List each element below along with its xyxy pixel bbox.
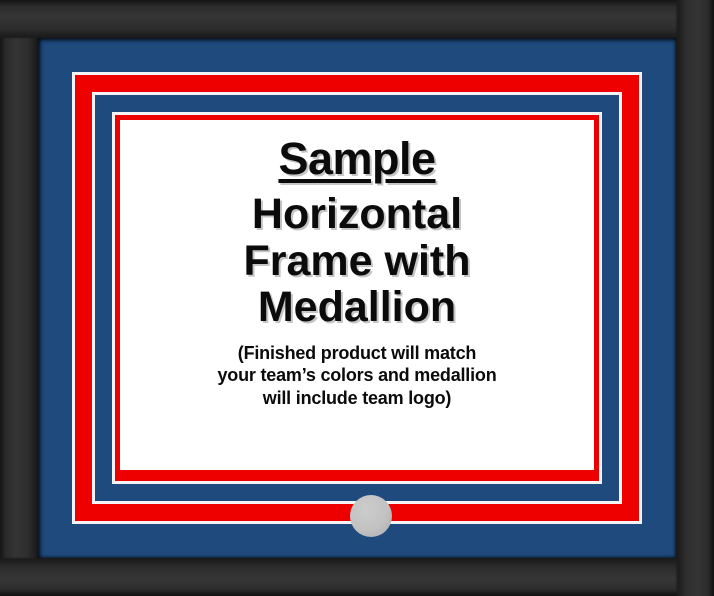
panel-title-sample: Sample: [278, 136, 435, 181]
framed-artwork: Sample Horizontal Frame with Medallion (…: [0, 0, 714, 596]
panel-headline-line-1: Horizontal: [252, 192, 462, 237]
medallion-disc: [350, 495, 392, 537]
panel-headline-line-3: Medallion: [258, 285, 456, 330]
panel-headline-line-2: Frame with: [244, 239, 471, 284]
panel-note-line-3: will include team logo): [217, 387, 496, 409]
panel-note-line-1: (Finished product will match: [217, 342, 496, 364]
panel-note: (Finished product will match your team’s…: [217, 342, 496, 409]
photo-opening-panel: Sample Horizontal Frame with Medallion (…: [120, 120, 594, 470]
panel-note-line-2: your team’s colors and medallion: [217, 364, 496, 386]
